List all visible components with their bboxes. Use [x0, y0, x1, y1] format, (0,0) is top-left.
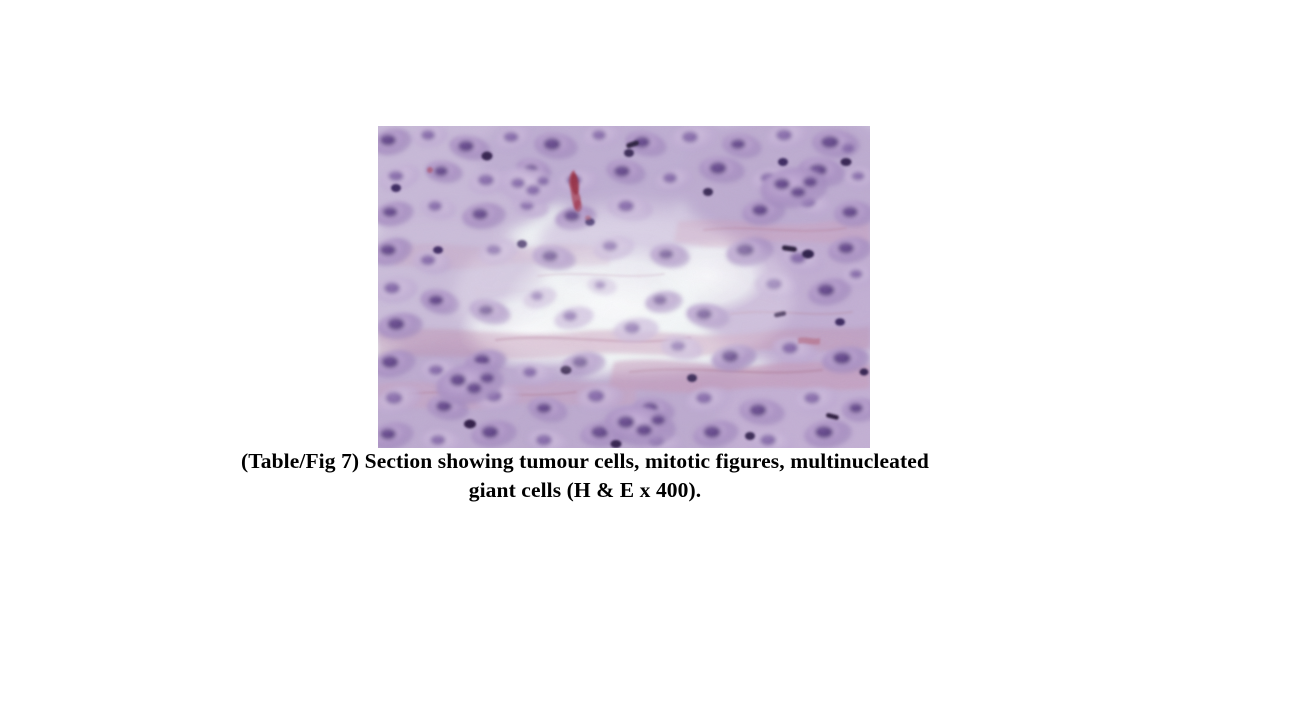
figure-caption-line-2: giant cells (H & E x 400).	[139, 476, 1031, 505]
figure-caption: (Table/Fig 7) Section showing tumour cel…	[139, 447, 1031, 505]
figure-block: (Table/Fig 7) Section showing tumour cel…	[0, 0, 1298, 716]
histopathology-micrograph-image	[378, 126, 870, 448]
figure-caption-line-1: (Table/Fig 7) Section showing tumour cel…	[139, 447, 1031, 476]
micrograph-figure	[378, 126, 870, 448]
